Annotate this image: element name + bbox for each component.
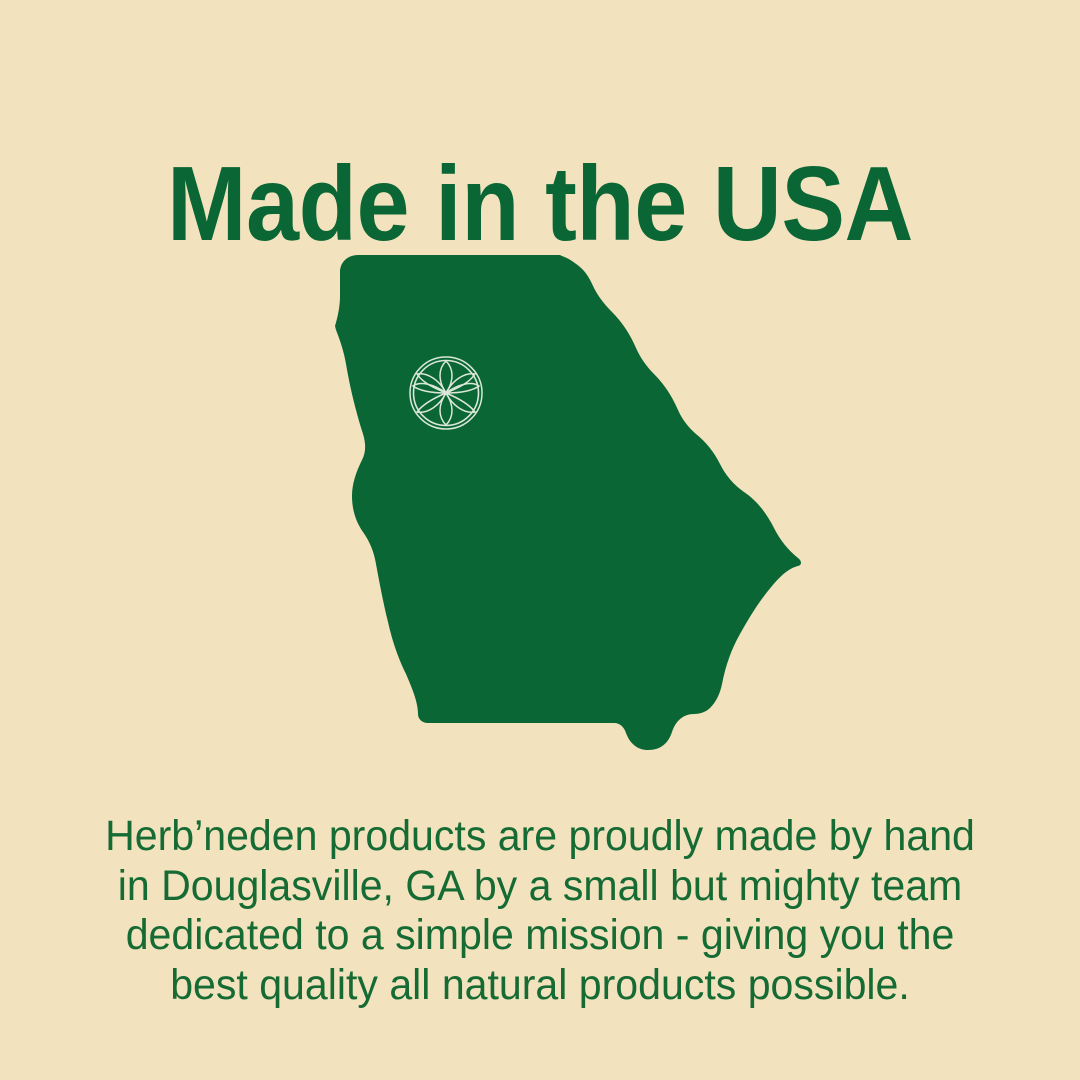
mission-statement: Herb’neden products are proudly made by …	[0, 812, 1080, 1010]
georgia-state-svg	[0, 236, 1080, 776]
mission-line-2: in Douglasville, GA by a small but might…	[24, 862, 1055, 912]
made-in-usa-poster: Made in the USA	[0, 0, 1080, 1080]
mission-line-4: best quality all natural products possib…	[24, 961, 1055, 1011]
georgia-map-graphic	[0, 236, 1080, 776]
georgia-state-shape	[335, 255, 801, 750]
mission-line-3: dedicated to a simple mission - giving y…	[24, 911, 1055, 961]
mission-line-1: Herb’neden products are proudly made by …	[24, 812, 1055, 862]
